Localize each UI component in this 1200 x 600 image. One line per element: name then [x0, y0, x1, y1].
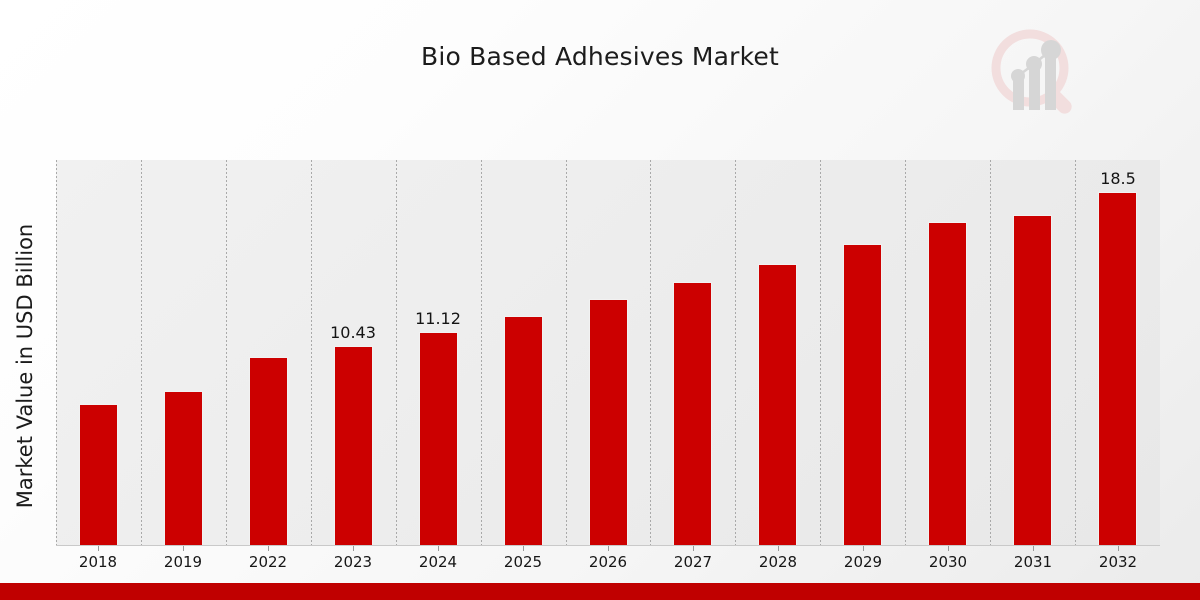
x-axis-label-2025: 2025 [483, 553, 563, 571]
gridline [650, 160, 651, 545]
x-axis-tick [523, 546, 524, 551]
gridline [56, 160, 57, 545]
bar-value-label: 10.43 [313, 323, 393, 342]
bar-2027[interactable] [673, 282, 712, 545]
x-axis-label-2028: 2028 [738, 553, 818, 571]
x-axis-label-2026: 2026 [568, 553, 648, 571]
gridline [311, 160, 312, 545]
gridline [1075, 160, 1076, 545]
bar-2024[interactable] [419, 332, 458, 545]
x-axis-tick [693, 546, 694, 551]
x-axis-tick [778, 546, 779, 551]
bar-2022[interactable] [249, 357, 288, 545]
x-axis-tick [608, 546, 609, 551]
bar-2029[interactable] [843, 244, 882, 545]
gridline [566, 160, 567, 545]
x-axis-tick [948, 546, 949, 551]
gridline [226, 160, 227, 545]
chart-title: Bio Based Adhesives Market [0, 42, 1200, 71]
bar-2025[interactable] [504, 316, 543, 545]
gridline [481, 160, 482, 545]
gridline [990, 160, 991, 545]
bar-2018[interactable] [79, 404, 118, 545]
market-research-logo-watermark [985, 24, 1085, 124]
chart-page: Bio Based Adhesives Market Market Value … [0, 0, 1200, 600]
gridline [735, 160, 736, 545]
x-axis-label-2029: 2029 [823, 553, 903, 571]
bar-2032[interactable] [1098, 192, 1137, 545]
gridline [820, 160, 821, 545]
bar-2030[interactable] [928, 222, 967, 545]
footer-accent-bar [0, 583, 1200, 600]
x-axis-tick [268, 546, 269, 551]
x-axis-label-2031: 2031 [993, 553, 1073, 571]
x-axis-label-2019: 2019 [143, 553, 223, 571]
x-axis-tick [1033, 546, 1034, 551]
bar-value-label: 18.5 [1078, 169, 1158, 188]
plot-area [56, 160, 1160, 545]
x-axis-label-2030: 2030 [908, 553, 988, 571]
bar-2023[interactable] [334, 346, 373, 545]
x-axis-label-2027: 2027 [653, 553, 733, 571]
x-axis-label-2022: 2022 [228, 553, 308, 571]
bar-2026[interactable] [589, 299, 628, 545]
x-axis-tick [863, 546, 864, 551]
gridline [905, 160, 906, 545]
x-axis-tick [438, 546, 439, 551]
x-axis-label-2023: 2023 [313, 553, 393, 571]
bar-2031[interactable] [1013, 215, 1052, 545]
x-axis-label-2024: 2024 [398, 553, 478, 571]
y-axis-title: Market Value in USD Billion [13, 166, 37, 566]
gridline [396, 160, 397, 545]
x-axis-tick [353, 546, 354, 551]
bar-2028[interactable] [758, 264, 797, 545]
x-axis-tick [1118, 546, 1119, 551]
bar-value-label: 11.12 [398, 309, 478, 328]
x-axis-label-2032: 2032 [1078, 553, 1158, 571]
gridline [141, 160, 142, 545]
x-axis-tick [98, 546, 99, 551]
x-axis-label-2018: 2018 [58, 553, 138, 571]
bar-2019[interactable] [164, 391, 203, 545]
x-axis-tick [183, 546, 184, 551]
